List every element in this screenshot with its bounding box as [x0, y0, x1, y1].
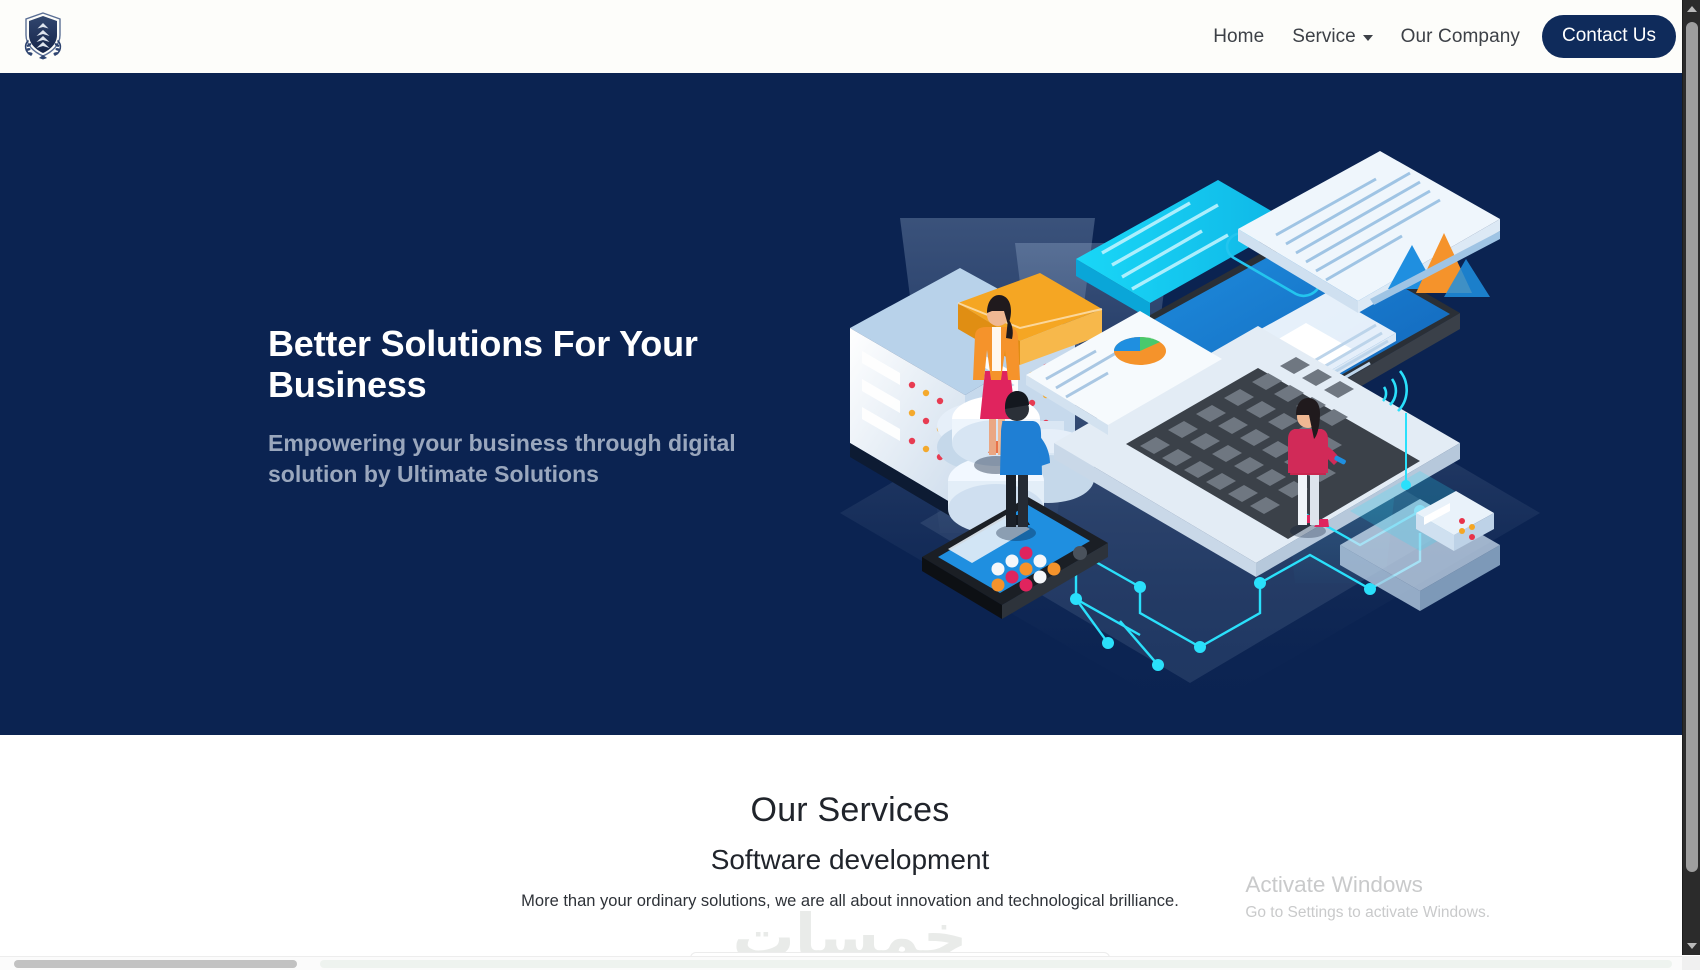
hero-copy: Better Solutions For Your Business Empow… [268, 323, 828, 490]
chevron-down-icon [1363, 35, 1373, 41]
hero-title: Better Solutions For Your Business [268, 323, 828, 406]
scrollbar-corner [1682, 956, 1700, 970]
vertical-scrollbar[interactable] [1682, 0, 1700, 955]
activate-windows-subtitle: Go to Settings to activate Windows. [1245, 904, 1490, 922]
activate-windows-watermark: Activate Windows Go to Settings to activ… [1245, 872, 1490, 922]
vertical-scrollbar-thumb[interactable] [1686, 22, 1698, 872]
shield-crest-icon [21, 11, 65, 61]
shield-crest-logo[interactable] [13, 6, 73, 66]
scroll-down-arrow-icon[interactable] [1683, 937, 1700, 955]
contact-us-button[interactable]: Contact Us [1542, 15, 1676, 58]
scroll-up-arrow-icon[interactable] [1683, 0, 1700, 18]
horizontal-scrollbar-track[interactable] [320, 960, 1672, 968]
activate-windows-title: Activate Windows [1245, 872, 1490, 898]
horizontal-scrollbar[interactable] [0, 956, 1682, 970]
nav-link-service[interactable]: Service [1278, 26, 1386, 48]
page-root: Home Service Our Company Contact Us Bett… [0, 0, 1700, 970]
nav-link-our-company[interactable]: Our Company [1387, 0, 1534, 73]
hero-section: Better Solutions For Your Business Empow… [0, 73, 1700, 735]
navbar-links: Home Service Our Company Contact Us [1199, 0, 1676, 73]
site-navbar: Home Service Our Company Contact Us [0, 0, 1700, 73]
hero-subtitle: Empowering your business through digital… [268, 428, 808, 490]
services-heading: Our Services [0, 791, 1700, 830]
nav-link-home[interactable]: Home [1199, 0, 1278, 73]
nav-link-service-label: Service [1292, 26, 1355, 48]
horizontal-scrollbar-thumb[interactable] [14, 960, 297, 968]
isometric-digital-workspace-illustration [840, 113, 1540, 713]
